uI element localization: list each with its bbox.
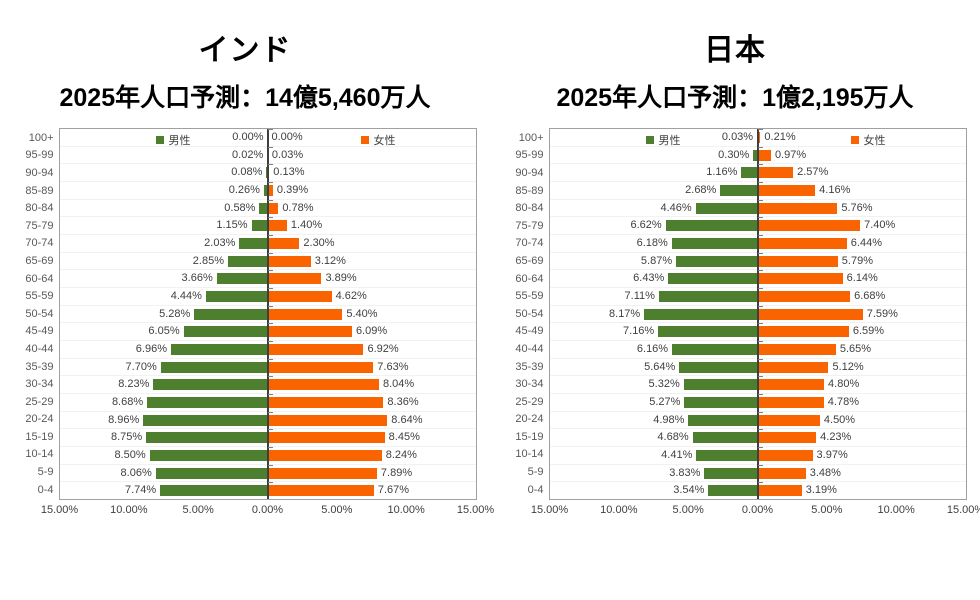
- male-value-label: 0.02%: [232, 150, 263, 161]
- male-bar[interactable]: [160, 485, 267, 496]
- female-bar[interactable]: [758, 397, 824, 408]
- female-bar[interactable]: [268, 203, 279, 214]
- female-bar[interactable]: [268, 379, 379, 390]
- x-axis-tick-label: 5.00%: [673, 504, 704, 516]
- female-value-label: 7.63%: [377, 362, 408, 373]
- male-value-label: 3.66%: [182, 273, 213, 284]
- male-value-label: 4.68%: [657, 432, 688, 443]
- female-bar[interactable]: [758, 379, 825, 390]
- age-group-label: 35-39: [14, 358, 59, 376]
- chart-subtitle-india: 2025年人口予測：14億5,460万人: [60, 86, 431, 111]
- female-value-label: 4.16%: [819, 185, 850, 196]
- age-group-label: 5-9: [14, 463, 59, 481]
- female-bar[interactable]: [758, 220, 861, 231]
- male-bar[interactable]: [184, 326, 268, 337]
- age-group-label: 55-59: [14, 287, 59, 305]
- population-pyramid-page: インド 2025年人口予測：14億5,460万人 100+95-9990-948…: [0, 0, 980, 600]
- female-bar[interactable]: [268, 485, 374, 496]
- x-axis-tick-label: 15.00%: [531, 504, 568, 516]
- legend-female-swatch-icon: [851, 136, 859, 144]
- female-value-label: 7.59%: [867, 309, 898, 320]
- male-value-label: 7.74%: [125, 485, 156, 496]
- male-value-label: 3.54%: [673, 485, 704, 496]
- center-axis-line: [267, 129, 269, 499]
- female-value-label: 4.23%: [820, 432, 851, 443]
- x-axis-tick-label: 15.00%: [41, 504, 78, 516]
- male-value-label: 5.28%: [159, 309, 190, 320]
- age-group-label: 55-59: [504, 287, 549, 305]
- axis-tick-mark: [268, 217, 273, 218]
- page-title-india: インド: [199, 36, 292, 66]
- male-bar[interactable]: [252, 220, 268, 231]
- male-value-label: 1.16%: [706, 167, 737, 178]
- axis-tick-mark: [268, 482, 273, 483]
- male-value-label: 6.43%: [633, 273, 664, 284]
- female-value-label: 5.12%: [832, 362, 863, 373]
- axis-tick-mark: [758, 447, 763, 448]
- male-bar[interactable]: [239, 238, 267, 249]
- male-bar[interactable]: [704, 468, 757, 479]
- female-bar[interactable]: [758, 362, 829, 373]
- female-value-label: 6.68%: [854, 291, 885, 302]
- female-bar[interactable]: [758, 432, 817, 443]
- axis-tick-mark: [758, 429, 763, 430]
- female-value-label: 0.78%: [282, 203, 313, 214]
- male-bar[interactable]: [676, 256, 757, 267]
- male-value-label: 8.23%: [118, 379, 149, 390]
- axis-tick-mark: [758, 147, 763, 148]
- male-bar[interactable]: [153, 379, 267, 390]
- male-value-label: 2.03%: [204, 238, 235, 249]
- legend-female-swatch-icon: [361, 136, 369, 144]
- legend-female-label: 女性: [864, 132, 886, 148]
- legend-male-swatch-icon: [156, 136, 164, 144]
- x-axis-tick-label: 10.00%: [110, 504, 147, 516]
- x-axis-tick-label: 0.00%: [252, 504, 283, 516]
- female-bar[interactable]: [268, 291, 332, 302]
- age-group-label: 70-74: [14, 235, 59, 253]
- male-value-label: 0.00%: [232, 132, 263, 143]
- female-bar[interactable]: [268, 238, 300, 249]
- age-group-label: 80-84: [504, 199, 549, 217]
- female-value-label: 4.50%: [824, 415, 855, 426]
- male-bar[interactable]: [658, 326, 757, 337]
- female-value-label: 3.19%: [806, 485, 837, 496]
- legend-male-japan[interactable]: 男性: [646, 132, 681, 148]
- age-group-label: 65-69: [504, 252, 549, 270]
- female-value-label: 0.39%: [277, 185, 308, 196]
- axis-tick-mark: [758, 341, 763, 342]
- male-value-label: 6.18%: [637, 238, 668, 249]
- x-axis-tick-label: 10.00%: [388, 504, 425, 516]
- male-value-label: 5.64%: [644, 362, 675, 373]
- x-axis-tick-label: 15.00%: [947, 504, 980, 516]
- female-value-label: 6.09%: [356, 326, 387, 337]
- x-axis-tick-label: 5.00%: [321, 504, 352, 516]
- age-group-label: 40-44: [504, 340, 549, 358]
- male-value-label: 8.75%: [111, 432, 142, 443]
- age-group-label: 70-74: [504, 235, 549, 253]
- male-value-label: 7.70%: [126, 362, 157, 373]
- female-bar[interactable]: [758, 203, 838, 214]
- age-group-label: 85-89: [14, 182, 59, 200]
- male-value-label: 6.96%: [136, 344, 167, 355]
- age-group-label: 65-69: [14, 252, 59, 270]
- female-value-label: 8.24%: [386, 450, 417, 461]
- age-group-label: 80-84: [14, 199, 59, 217]
- female-bar[interactable]: [268, 220, 287, 231]
- age-group-label: 35-39: [504, 358, 549, 376]
- female-value-label: 5.76%: [841, 203, 872, 214]
- male-value-label: 3.83%: [669, 468, 700, 479]
- female-bar[interactable]: [758, 238, 847, 249]
- age-group-label: 0-4: [14, 481, 59, 499]
- female-value-label: 2.30%: [303, 238, 334, 249]
- female-bar[interactable]: [758, 468, 806, 479]
- male-bar[interactable]: [146, 432, 267, 443]
- axis-tick-mark: [268, 429, 273, 430]
- legend-female-india[interactable]: 女性: [361, 132, 396, 148]
- axis-tick-mark: [758, 235, 763, 236]
- axis-tick-mark: [268, 376, 273, 377]
- age-group-label: 100+: [14, 129, 59, 147]
- male-value-label: 8.68%: [112, 397, 143, 408]
- male-value-label: 8.06%: [121, 468, 152, 479]
- axis-tick-mark: [268, 164, 273, 165]
- age-group-label: 95-99: [504, 147, 549, 165]
- age-group-label: 75-79: [14, 217, 59, 235]
- male-value-label: 6.62%: [631, 220, 662, 231]
- age-group-label: 60-64: [14, 270, 59, 288]
- male-value-label: 0.03%: [722, 132, 753, 143]
- female-value-label: 2.57%: [797, 167, 828, 178]
- axis-tick-mark: [758, 217, 763, 218]
- male-value-label: 8.50%: [114, 450, 145, 461]
- female-value-label: 7.89%: [381, 468, 412, 479]
- age-group-label: 95-99: [14, 147, 59, 165]
- chart-subtitle-japan: 2025年人口予測：1億2,195万人: [556, 86, 913, 111]
- female-value-label: 0.97%: [775, 150, 806, 161]
- male-value-label: 8.17%: [609, 309, 640, 320]
- axis-tick-mark: [268, 129, 273, 130]
- age-group-label: 25-29: [14, 393, 59, 411]
- male-bar[interactable]: [668, 273, 757, 284]
- female-bar[interactable]: [758, 450, 813, 461]
- male-bar[interactable]: [143, 415, 267, 426]
- axis-tick-mark: [758, 253, 763, 254]
- female-bar[interactable]: [758, 415, 820, 426]
- male-value-label: 7.16%: [623, 326, 654, 337]
- male-bar[interactable]: [171, 344, 268, 355]
- axis-tick-mark: [758, 182, 763, 183]
- female-bar[interactable]: [268, 362, 374, 373]
- age-group-label: 90-94: [14, 164, 59, 182]
- x-axis-tick-label: 15.00%: [457, 504, 494, 516]
- center-axis-line: [757, 129, 759, 499]
- female-value-label: 4.62%: [336, 291, 367, 302]
- female-bar[interactable]: [268, 468, 377, 479]
- axis-tick-mark: [268, 200, 273, 201]
- male-bar[interactable]: [741, 167, 757, 178]
- male-value-label: 6.05%: [148, 326, 179, 337]
- female-value-label: 4.78%: [828, 397, 859, 408]
- axis-tick-mark: [758, 306, 763, 307]
- male-bar[interactable]: [659, 291, 758, 302]
- age-axis-japan: 100+95-9990-9485-8980-8475-7970-7465-696…: [504, 128, 549, 500]
- axis-tick-mark: [758, 482, 763, 483]
- female-bar[interactable]: [268, 344, 364, 355]
- female-bar[interactable]: [758, 167, 794, 178]
- male-value-label: 0.58%: [224, 203, 255, 214]
- female-value-label: 1.40%: [291, 220, 322, 231]
- male-bar[interactable]: [696, 450, 757, 461]
- axis-tick-mark: [268, 253, 273, 254]
- age-group-label: 10-14: [14, 446, 59, 464]
- legend-male-india[interactable]: 男性: [156, 132, 191, 148]
- female-bar[interactable]: [268, 415, 388, 426]
- female-bar[interactable]: [268, 273, 322, 284]
- male-bar[interactable]: [672, 238, 758, 249]
- axis-tick-mark: [268, 182, 273, 183]
- female-bar[interactable]: [268, 326, 352, 337]
- female-value-label: 3.12%: [315, 256, 346, 267]
- male-bar[interactable]: [688, 415, 757, 426]
- male-bar[interactable]: [666, 220, 758, 231]
- axis-tick-mark: [758, 394, 763, 395]
- legend-male-label: 男性: [169, 132, 191, 148]
- axis-tick-mark: [758, 412, 763, 413]
- age-axis-india: 100+95-9990-9485-8980-8475-7970-7465-696…: [14, 128, 59, 500]
- male-bar[interactable]: [147, 397, 267, 408]
- female-bar[interactable]: [758, 291, 851, 302]
- x-axis-tick-label: 10.00%: [600, 504, 637, 516]
- age-group-label: 20-24: [504, 411, 549, 429]
- female-bar[interactable]: [758, 273, 843, 284]
- age-group-label: 50-54: [14, 305, 59, 323]
- male-value-label: 0.30%: [718, 150, 749, 161]
- x-axis-japan: 15.00%10.00%5.00%0.00%5.00%10.00%15.00%: [504, 504, 967, 520]
- axis-tick-mark: [268, 341, 273, 342]
- male-value-label: 0.08%: [231, 167, 262, 178]
- female-value-label: 5.65%: [840, 344, 871, 355]
- axis-tick-mark: [268, 394, 273, 395]
- male-value-label: 4.46%: [660, 203, 691, 214]
- age-group-label: 100+: [504, 129, 549, 147]
- age-group-label: 75-79: [504, 217, 549, 235]
- female-value-label: 3.48%: [810, 468, 841, 479]
- age-group-label: 0-4: [504, 481, 549, 499]
- male-value-label: 4.41%: [661, 450, 692, 461]
- male-bar[interactable]: [194, 309, 267, 320]
- age-group-label: 30-34: [504, 375, 549, 393]
- male-value-label: 4.98%: [653, 415, 684, 426]
- age-group-label: 5-9: [504, 463, 549, 481]
- female-bar[interactable]: [268, 397, 384, 408]
- male-bar[interactable]: [644, 309, 757, 320]
- male-bar[interactable]: [696, 203, 758, 214]
- x-axis-tick-label: 0.00%: [742, 504, 773, 516]
- age-group-label: 50-54: [504, 305, 549, 323]
- male-value-label: 7.11%: [625, 291, 655, 302]
- male-bar[interactable]: [720, 185, 757, 196]
- axis-tick-mark: [268, 147, 273, 148]
- male-bar[interactable]: [708, 485, 757, 496]
- male-bar[interactable]: [228, 256, 268, 267]
- male-bar[interactable]: [156, 468, 268, 479]
- axis-tick-mark: [268, 306, 273, 307]
- age-group-label: 30-34: [14, 375, 59, 393]
- axis-tick-mark: [758, 288, 763, 289]
- female-bar[interactable]: [758, 309, 863, 320]
- female-bar[interactable]: [268, 256, 311, 267]
- male-value-label: 5.27%: [649, 397, 680, 408]
- axis-tick-mark: [758, 200, 763, 201]
- plot-wrap-japan: 100+95-9990-9485-8980-8475-7970-7465-696…: [504, 128, 967, 500]
- axis-tick-mark: [758, 359, 763, 360]
- female-value-label: 7.40%: [864, 220, 895, 231]
- female-value-label: 3.97%: [817, 450, 848, 461]
- female-bar[interactable]: [758, 344, 836, 355]
- female-value-label: 5.40%: [346, 309, 377, 320]
- age-group-label: 85-89: [504, 182, 549, 200]
- male-value-label: 1.15%: [216, 220, 247, 231]
- plot-wrap-india: 100+95-9990-9485-8980-8475-7970-7465-696…: [14, 128, 477, 500]
- female-value-label: 6.59%: [853, 326, 884, 337]
- female-bar[interactable]: [268, 450, 382, 461]
- axis-tick-mark: [268, 412, 273, 413]
- axis-tick-mark: [268, 270, 273, 271]
- legend-male-swatch-icon: [646, 136, 654, 144]
- female-value-label: 6.92%: [367, 344, 398, 355]
- female-value-label: 8.04%: [383, 379, 414, 390]
- legend-female-label: 女性: [374, 132, 396, 148]
- male-bar[interactable]: [150, 450, 268, 461]
- female-value-label: 3.89%: [325, 273, 356, 284]
- female-bar[interactable]: [758, 185, 816, 196]
- female-bar[interactable]: [758, 256, 838, 267]
- male-value-label: 2.68%: [685, 185, 716, 196]
- age-group-label: 25-29: [504, 393, 549, 411]
- x-axis-tick-label: 5.00%: [183, 504, 214, 516]
- female-value-label: 6.44%: [851, 238, 882, 249]
- age-group-label: 45-49: [14, 323, 59, 341]
- axis-tick-mark: [758, 164, 763, 165]
- axis-tick-mark: [268, 359, 273, 360]
- female-bar[interactable]: [758, 485, 802, 496]
- male-bar[interactable]: [679, 362, 757, 373]
- age-group-label: 60-64: [504, 270, 549, 288]
- age-group-label: 90-94: [504, 164, 549, 182]
- axis-tick-mark: [758, 465, 763, 466]
- male-value-label: 0.26%: [229, 185, 260, 196]
- male-value-label: 4.44%: [171, 291, 202, 302]
- female-value-label: 0.03%: [272, 150, 303, 161]
- axis-tick-mark: [268, 447, 273, 448]
- page-title-japan: 日本: [704, 36, 766, 66]
- male-bar[interactable]: [684, 397, 757, 408]
- female-value-label: 8.45%: [389, 432, 420, 443]
- legend-female-japan[interactable]: 女性: [851, 132, 886, 148]
- age-group-label: 15-19: [14, 428, 59, 446]
- axis-tick-mark: [268, 235, 273, 236]
- male-value-label: 6.16%: [637, 344, 668, 355]
- age-group-label: 20-24: [14, 411, 59, 429]
- male-value-label: 5.87%: [641, 256, 672, 267]
- x-axis-india: 15.00%10.00%5.00%0.00%5.00%10.00%15.00%: [14, 504, 477, 520]
- legend-male-label: 男性: [659, 132, 681, 148]
- axis-tick-mark: [758, 376, 763, 377]
- male-bar[interactable]: [206, 291, 268, 302]
- male-value-label: 8.96%: [108, 415, 139, 426]
- age-group-label: 40-44: [14, 340, 59, 358]
- male-value-label: 5.32%: [649, 379, 680, 390]
- female-value-label: 0.13%: [273, 167, 304, 178]
- axis-tick-mark: [268, 323, 273, 324]
- chart-panel-india: インド 2025年人口予測：14億5,460万人 100+95-9990-948…: [0, 0, 490, 600]
- female-bar[interactable]: [268, 309, 343, 320]
- x-axis-tick-label: 5.00%: [811, 504, 842, 516]
- axis-tick-mark: [268, 465, 273, 466]
- x-axis-tick-label: 10.00%: [878, 504, 915, 516]
- axis-tick-mark: [758, 129, 763, 130]
- male-value-label: 2.85%: [193, 256, 224, 267]
- axis-tick-mark: [758, 323, 763, 324]
- age-group-label: 10-14: [504, 446, 549, 464]
- female-value-label: 7.67%: [378, 485, 409, 496]
- female-value-label: 6.14%: [847, 273, 878, 284]
- female-value-label: 0.21%: [764, 132, 795, 143]
- plot-area-india: 0.00%0.00%0.02%0.03%0.08%0.13%0.26%0.39%…: [59, 128, 477, 500]
- age-group-label: 15-19: [504, 428, 549, 446]
- female-value-label: 5.79%: [842, 256, 873, 267]
- male-bar[interactable]: [672, 344, 757, 355]
- chart-panel-japan: 日本 2025年人口予測：1億2,195万人 100+95-9990-9485-…: [490, 0, 980, 600]
- female-bar[interactable]: [758, 150, 771, 161]
- male-bar[interactable]: [161, 362, 268, 373]
- age-group-label: 45-49: [504, 323, 549, 341]
- male-bar[interactable]: [693, 432, 758, 443]
- male-bar[interactable]: [217, 273, 268, 284]
- female-value-label: 0.00%: [272, 132, 303, 143]
- axis-tick-mark: [268, 288, 273, 289]
- female-value-label: 8.64%: [391, 415, 422, 426]
- female-value-label: 8.36%: [387, 397, 418, 408]
- female-bar[interactable]: [758, 326, 849, 337]
- axis-tick-mark: [758, 270, 763, 271]
- male-bar[interactable]: [684, 379, 758, 390]
- female-bar[interactable]: [268, 432, 385, 443]
- female-value-label: 4.80%: [828, 379, 859, 390]
- plot-area-japan: 0.03%0.21%0.30%0.97%1.16%2.57%2.68%4.16%…: [549, 128, 967, 500]
